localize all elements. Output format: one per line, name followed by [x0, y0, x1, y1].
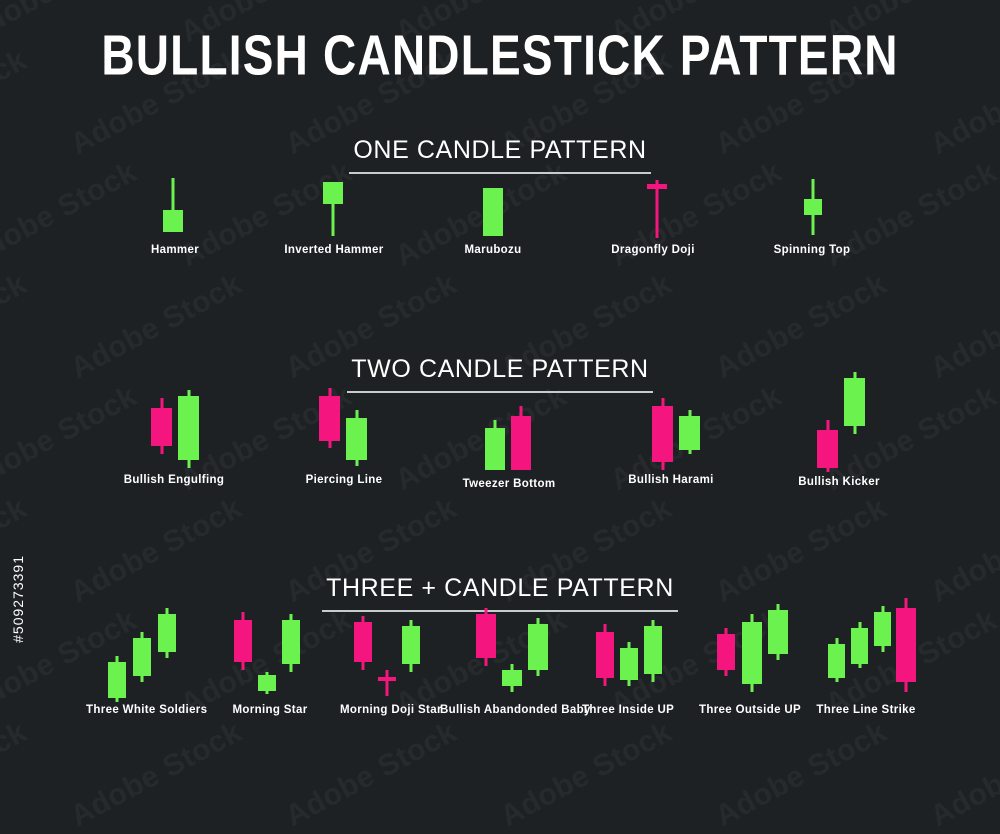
candle-body	[768, 610, 788, 654]
watermark-text: Adobe Stock	[0, 715, 33, 834]
pattern-inverted-hammer: Inverted Hammer	[275, 170, 393, 264]
pattern-bullish-abandonded-baby: Bullish Abandonded Baby	[440, 600, 570, 724]
candle-body	[476, 614, 496, 658]
candle-bullish	[158, 600, 176, 704]
candle-bullish	[483, 170, 503, 244]
pattern-marubozu: Marubozu	[450, 170, 536, 264]
pattern-bullish-kicker: Bullish Kicker	[790, 368, 888, 496]
candle-body	[346, 418, 367, 460]
pattern-three-inside-up: Three Inside UP	[582, 600, 674, 724]
candle-bearish	[511, 388, 531, 478]
candle-bearish	[151, 388, 172, 474]
pattern-label: Bullish Abandonded Baby	[440, 704, 570, 716]
candle-bullish	[679, 388, 700, 474]
candle-wick	[386, 670, 389, 696]
pattern-three-outside-up: Three Outside UP	[697, 600, 803, 724]
pattern-piercing-line: Piercing Line	[298, 388, 390, 494]
pattern-morning-doji-star: Morning Doji Star	[340, 600, 440, 724]
pattern-label: Morning Star	[228, 704, 312, 716]
pattern-three-white-soldiers: Three White Soldiers	[86, 600, 206, 724]
candle-body	[151, 408, 172, 446]
candle-bullish	[323, 170, 343, 244]
candle-body	[511, 416, 531, 470]
candle-bullish	[346, 388, 367, 474]
candle-body	[319, 396, 340, 441]
candle-body	[874, 612, 891, 646]
candle-bearish	[378, 600, 396, 704]
candle-body	[502, 670, 522, 686]
candle-body	[620, 648, 638, 680]
candle-body	[717, 634, 735, 670]
candle-body	[851, 628, 868, 664]
pattern-label: Bullish Kicker	[790, 476, 888, 488]
candle-chart	[760, 170, 864, 244]
candle-bearish	[354, 600, 372, 704]
candle-body	[644, 626, 662, 674]
candle-bullish	[844, 368, 865, 476]
pattern-label: Piercing Line	[298, 474, 390, 486]
candle-body	[485, 428, 505, 470]
candle-body	[844, 378, 865, 426]
candle-bullish	[828, 594, 845, 704]
candle-body	[596, 632, 614, 678]
candle-bearish	[896, 594, 916, 704]
candle-chart	[790, 368, 888, 476]
candle-bullish	[282, 600, 300, 704]
image-id-watermark: #509273391	[10, 555, 26, 643]
pattern-label: Inverted Hammer	[275, 244, 393, 256]
candle-chart	[120, 388, 228, 474]
candle-bearish	[647, 170, 667, 244]
candle-body	[528, 624, 548, 670]
candle-body	[354, 622, 372, 662]
candle-body	[742, 622, 762, 684]
watermark-text: Adobe Stock	[65, 715, 248, 834]
pattern-label: Tweezer Bottom	[455, 478, 563, 490]
candle-body	[652, 406, 673, 462]
candle-body	[817, 430, 838, 468]
candle-bullish	[874, 594, 891, 704]
candle-bullish	[485, 388, 505, 478]
pattern-spinning-top: Spinning Top	[760, 170, 864, 264]
section-header-one-candle: ONE CANDLE PATTERN	[0, 136, 1000, 174]
candle-body	[108, 662, 126, 698]
candle-bearish	[319, 388, 340, 474]
candle-body	[483, 188, 503, 236]
candle-bullish	[644, 600, 662, 704]
pattern-label: Three White Soldiers	[86, 704, 206, 716]
candle-bullish	[528, 600, 548, 704]
pattern-label: Three Inside UP	[582, 704, 674, 716]
candle-chart	[697, 600, 803, 704]
candle-chart	[86, 600, 206, 704]
candle-body	[163, 210, 183, 232]
candle-body	[258, 675, 276, 691]
candle-chart	[582, 600, 674, 704]
pattern-label: Three Outside UP	[697, 704, 803, 716]
candle-bearish	[717, 600, 735, 704]
candle-chart	[455, 388, 563, 478]
candle-bearish	[817, 368, 838, 476]
candle-bullish	[768, 600, 788, 704]
watermark-text: Adobe Stock	[710, 715, 893, 834]
pattern-tweezer-bottom: Tweezer Bottom	[455, 388, 563, 498]
candle-bullish	[851, 594, 868, 704]
candle-body	[133, 638, 151, 676]
pattern-label: Bullish Harami	[622, 474, 720, 486]
candle-body	[896, 608, 916, 682]
candle-body	[402, 626, 420, 664]
candle-bullish	[502, 600, 522, 704]
candle-bearish	[652, 388, 673, 474]
candle-bullish	[133, 600, 151, 704]
pattern-label: Marubozu	[450, 244, 536, 256]
pattern-label: Three Line Strike	[814, 704, 918, 716]
candle-chart	[622, 388, 720, 474]
pattern-label: Morning Doji Star	[340, 704, 440, 716]
candle-body	[282, 620, 300, 664]
candle-chart	[450, 170, 536, 244]
pattern-dragonfly-doji: Dragonfly Doji	[598, 170, 708, 264]
candle-bullish	[742, 600, 762, 704]
candle-bullish	[178, 388, 199, 474]
pattern-morning-star: Morning Star	[228, 600, 312, 724]
candle-bullish	[258, 600, 276, 704]
candle-bearish	[476, 600, 496, 704]
candle-chart	[275, 170, 393, 244]
candle-body	[679, 416, 700, 450]
candle-body	[804, 199, 822, 215]
pattern-hammer: Hammer	[135, 170, 215, 264]
candle-bearish	[596, 600, 614, 704]
candle-body	[323, 182, 343, 204]
candle-body	[828, 644, 845, 678]
candle-body	[158, 614, 176, 652]
candle-chart	[440, 600, 570, 704]
candle-bullish	[804, 170, 822, 244]
candle-chart	[298, 388, 390, 474]
candle-body	[234, 620, 252, 662]
pattern-bullish-harami: Bullish Harami	[622, 388, 720, 494]
candle-body	[647, 184, 667, 189]
watermark-text: Adobe Stock	[280, 715, 463, 834]
pattern-three-line-strike: Three Line Strike	[814, 594, 918, 724]
candle-body	[178, 396, 199, 460]
candle-bullish	[163, 170, 183, 244]
candle-body	[378, 677, 396, 681]
pattern-label: Hammer	[135, 244, 215, 256]
pattern-label: Bullish Engulfing	[120, 474, 228, 486]
watermark-text: Adobe Stock	[925, 715, 1000, 834]
candle-chart	[228, 600, 312, 704]
candle-bullish	[620, 600, 638, 704]
candle-chart	[340, 600, 440, 704]
candle-chart	[814, 594, 918, 704]
candle-bullish	[402, 600, 420, 704]
candle-chart	[598, 170, 708, 244]
pattern-label: Dragonfly Doji	[598, 244, 708, 256]
section-header-one-candle-text: ONE CANDLE PATTERN	[349, 136, 650, 174]
candle-bullish	[108, 600, 126, 704]
candle-bearish	[234, 600, 252, 704]
pattern-label: Spinning Top	[760, 244, 864, 256]
page-title: BULLISH CANDLESTICK PATTERN	[0, 22, 1000, 88]
pattern-bullish-engulfing: Bullish Engulfing	[120, 388, 228, 494]
watermark-text: Adobe Stock	[495, 715, 678, 834]
candle-chart	[135, 170, 215, 244]
